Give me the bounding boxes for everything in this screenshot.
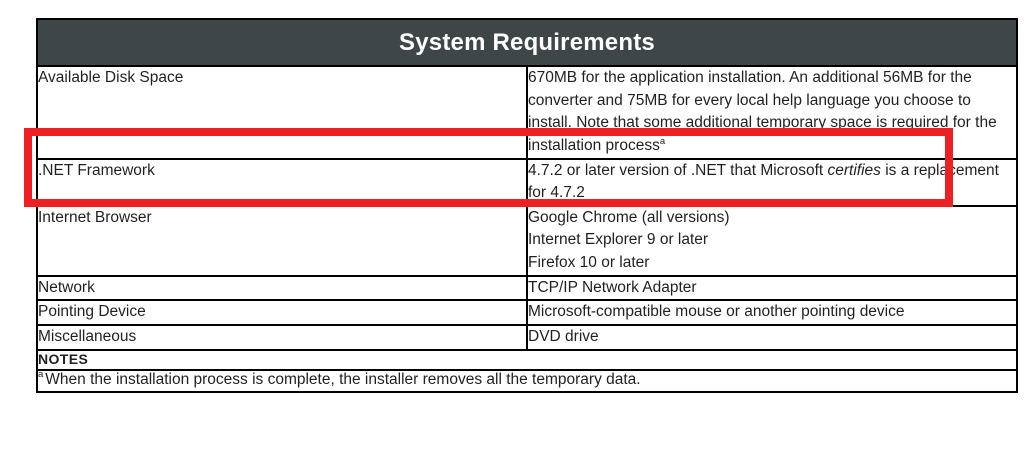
table-row-highlighted: .NET Framework 4.7.2 or later version of…: [37, 159, 1017, 206]
browser-line-chrome: Google Chrome (all versions): [528, 207, 1016, 230]
row-value-text-part-1: 4.7.2 or later version of .NET that Micr…: [528, 162, 828, 179]
table-row: Miscellaneous DVD drive: [37, 325, 1017, 350]
row-value-miscellaneous: DVD drive: [527, 325, 1017, 350]
row-value-text-emphasis: certifies: [828, 162, 881, 179]
row-label-internet-browser: Internet Browser: [37, 206, 527, 276]
document-page: System Requirements Available Disk Space…: [0, 0, 1033, 471]
notes-heading-row: NOTES: [37, 350, 1017, 370]
row-value-network: TCP/IP Network Adapter: [527, 276, 1017, 301]
row-value-net-framework: 4.7.2 or later version of .NET that Micr…: [527, 159, 1017, 206]
footnote-marker: a: [38, 369, 43, 380]
browser-line-firefox: Firefox 10 or later: [528, 252, 1016, 275]
notes-body-row: aWhen the installation process is comple…: [37, 370, 1017, 392]
notes-text: When the installation process is complet…: [45, 371, 640, 388]
row-label-available-disk-space: Available Disk Space: [37, 66, 527, 159]
row-value-available-disk-space: 670MB for the application installation. …: [527, 66, 1017, 159]
row-value-pointing-device: Microsoft-compatible mouse or another po…: [527, 300, 1017, 325]
row-label-net-framework: .NET Framework: [37, 159, 527, 206]
table-row: Available Disk Space 670MB for the appli…: [37, 66, 1017, 159]
table-title: System Requirements: [37, 19, 1017, 66]
table-row: Network TCP/IP Network Adapter: [37, 276, 1017, 301]
table-row: Internet Browser Google Chrome (all vers…: [37, 206, 1017, 276]
table-header-row: System Requirements: [37, 19, 1017, 66]
footnote-marker: a: [660, 136, 665, 147]
system-requirements-table: System Requirements Available Disk Space…: [36, 18, 1018, 393]
browser-line-ie: Internet Explorer 9 or later: [528, 229, 1016, 252]
notes-heading: NOTES: [37, 350, 1017, 370]
row-label-miscellaneous: Miscellaneous: [37, 325, 527, 350]
notes-body: aWhen the installation process is comple…: [37, 370, 1017, 392]
row-value-internet-browser: Google Chrome (all versions) Internet Ex…: [527, 206, 1017, 276]
row-value-text: 670MB for the application installation. …: [528, 69, 997, 154]
row-label-pointing-device: Pointing Device: [37, 300, 527, 325]
row-label-network: Network: [37, 276, 527, 301]
table-row: Pointing Device Microsoft-compatible mou…: [37, 300, 1017, 325]
